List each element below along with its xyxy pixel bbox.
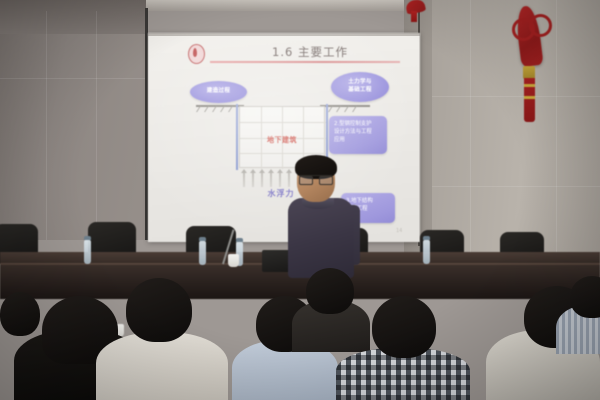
wall-seam [96, 11, 97, 240]
bottle-cap [84, 236, 91, 240]
retaining-wall-left [236, 104, 238, 170]
audience-head [0, 292, 40, 336]
buoyancy-arrow [279, 172, 281, 187]
slide-title: 1.6 主要工作 [235, 44, 385, 60]
wall-seam [432, 186, 600, 187]
water-bottle [423, 240, 430, 264]
presentation-photo: 1.6 主要工作 地下建筑 [0, 0, 600, 400]
bottle-cap [199, 237, 206, 241]
buoyancy-arrow [252, 172, 254, 187]
buoyancy-arrow [261, 172, 263, 187]
wall-seam [46, 11, 47, 240]
water-bottle [199, 241, 206, 265]
buoyancy-arrow [270, 172, 272, 187]
left-wall-upper-panel [0, 0, 146, 34]
presenter-torso [288, 198, 354, 278]
ellipse-construction-process: 建造过程 [190, 81, 247, 103]
ellipse-soil-mechanics: 土力学与 基础工程 [331, 72, 389, 102]
chinese-knot-small-icon [404, 0, 430, 22]
audience-head [372, 296, 436, 358]
bottle-cap [423, 236, 430, 240]
paper-cup [228, 254, 239, 267]
underground-building-label: 地下建筑 [245, 135, 319, 145]
title-underline [210, 61, 400, 63]
presenter-glasses-icon [299, 175, 332, 183]
slide-page-number: 14 [396, 228, 402, 234]
wall-seam [556, 0, 557, 262]
screen-top-shadow [148, 33, 420, 36]
chinese-knot-large-icon [512, 4, 546, 124]
water-bottle [84, 240, 91, 264]
audience-head [570, 276, 600, 318]
audience-head [126, 278, 192, 342]
callout-support-design: 2.型钢控制支护 设计方法与工程 应用 [329, 116, 387, 154]
buoyancy-arrow [243, 172, 245, 187]
left-wall [0, 0, 146, 240]
wall-seam [470, 0, 471, 262]
audience-head [306, 268, 354, 314]
buoyancy-arrow [288, 172, 290, 187]
wall-seam [0, 78, 146, 79]
bottle-cap [236, 238, 243, 242]
audience-member-2 [96, 332, 228, 400]
